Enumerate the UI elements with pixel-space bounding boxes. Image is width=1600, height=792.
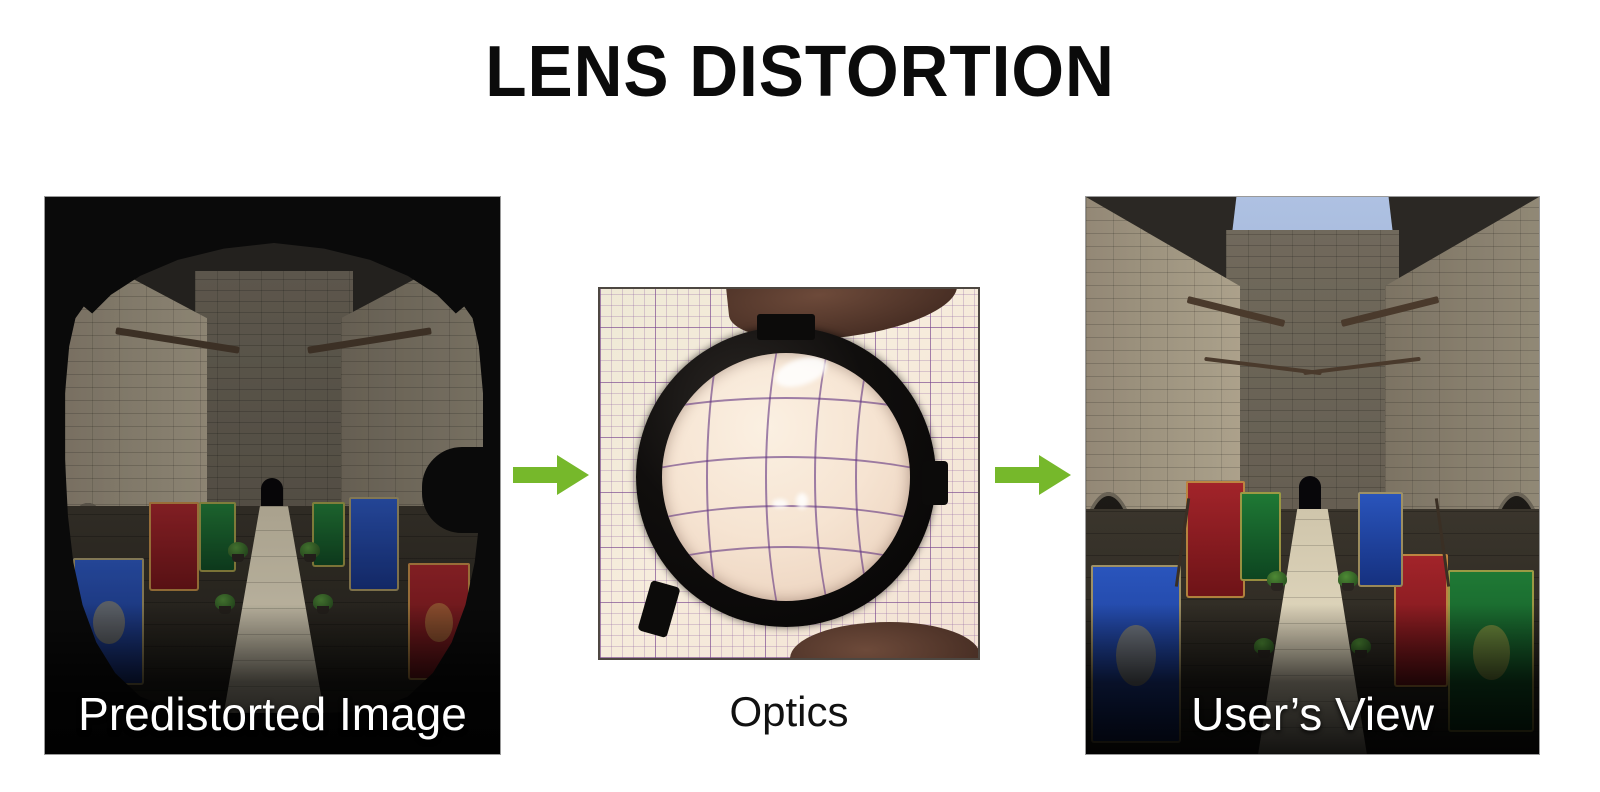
lens-glass <box>662 353 910 601</box>
lens-barrel <box>636 327 936 627</box>
lens-glare-center-a <box>772 499 788 508</box>
lens-glare-center-b <box>796 493 808 509</box>
panel-users-view[interactable]: User’s View <box>1085 196 1540 755</box>
scene-courtyard-distorted <box>65 243 483 713</box>
distorted-grid <box>662 353 910 601</box>
potted-plant <box>228 542 248 558</box>
flow-arrow-1 <box>513 451 589 499</box>
caption-users-view: User’s View <box>1086 690 1539 740</box>
slide-root: LENS DISTORTION <box>0 0 1600 792</box>
banner-red <box>149 502 199 591</box>
potted-plant <box>1267 571 1287 587</box>
caption-optics: Optics <box>598 688 980 736</box>
potted-plant <box>300 542 320 558</box>
banner-blue <box>1358 492 1403 587</box>
panel-optics-photo[interactable] <box>598 287 980 660</box>
banner-red <box>1186 481 1245 598</box>
caption-predistorted-image: Predistorted Image <box>45 690 500 740</box>
potted-plant <box>215 594 235 610</box>
lens-tab-right <box>922 461 948 505</box>
scene-courtyard-rectilinear <box>1086 197 1539 754</box>
potted-plant <box>1351 638 1371 654</box>
banner-green <box>312 502 345 568</box>
users-view-render <box>1086 197 1539 754</box>
banner-blue <box>73 558 144 685</box>
potted-plant <box>1338 571 1358 587</box>
banner-red <box>408 563 471 681</box>
predistorted-render <box>65 243 483 713</box>
banner-crest <box>1473 625 1511 680</box>
banner-crest <box>425 603 453 643</box>
panel-predistorted-image[interactable]: Predistorted Image <box>44 196 501 755</box>
banner-green <box>199 502 237 573</box>
flow-arrow-2 <box>995 451 1071 499</box>
banner-crest <box>93 601 124 644</box>
banner-blue <box>349 497 399 591</box>
banner-crest <box>1116 625 1156 686</box>
predistorted-black-backdrop <box>45 197 500 754</box>
banner-green <box>1240 492 1281 581</box>
page-title: LENS DISTORTION <box>48 36 1552 108</box>
lens-tab-top <box>757 314 815 340</box>
potted-plant <box>1254 638 1274 654</box>
distortion-edge-notch <box>422 447 486 533</box>
potted-plant <box>313 594 333 610</box>
